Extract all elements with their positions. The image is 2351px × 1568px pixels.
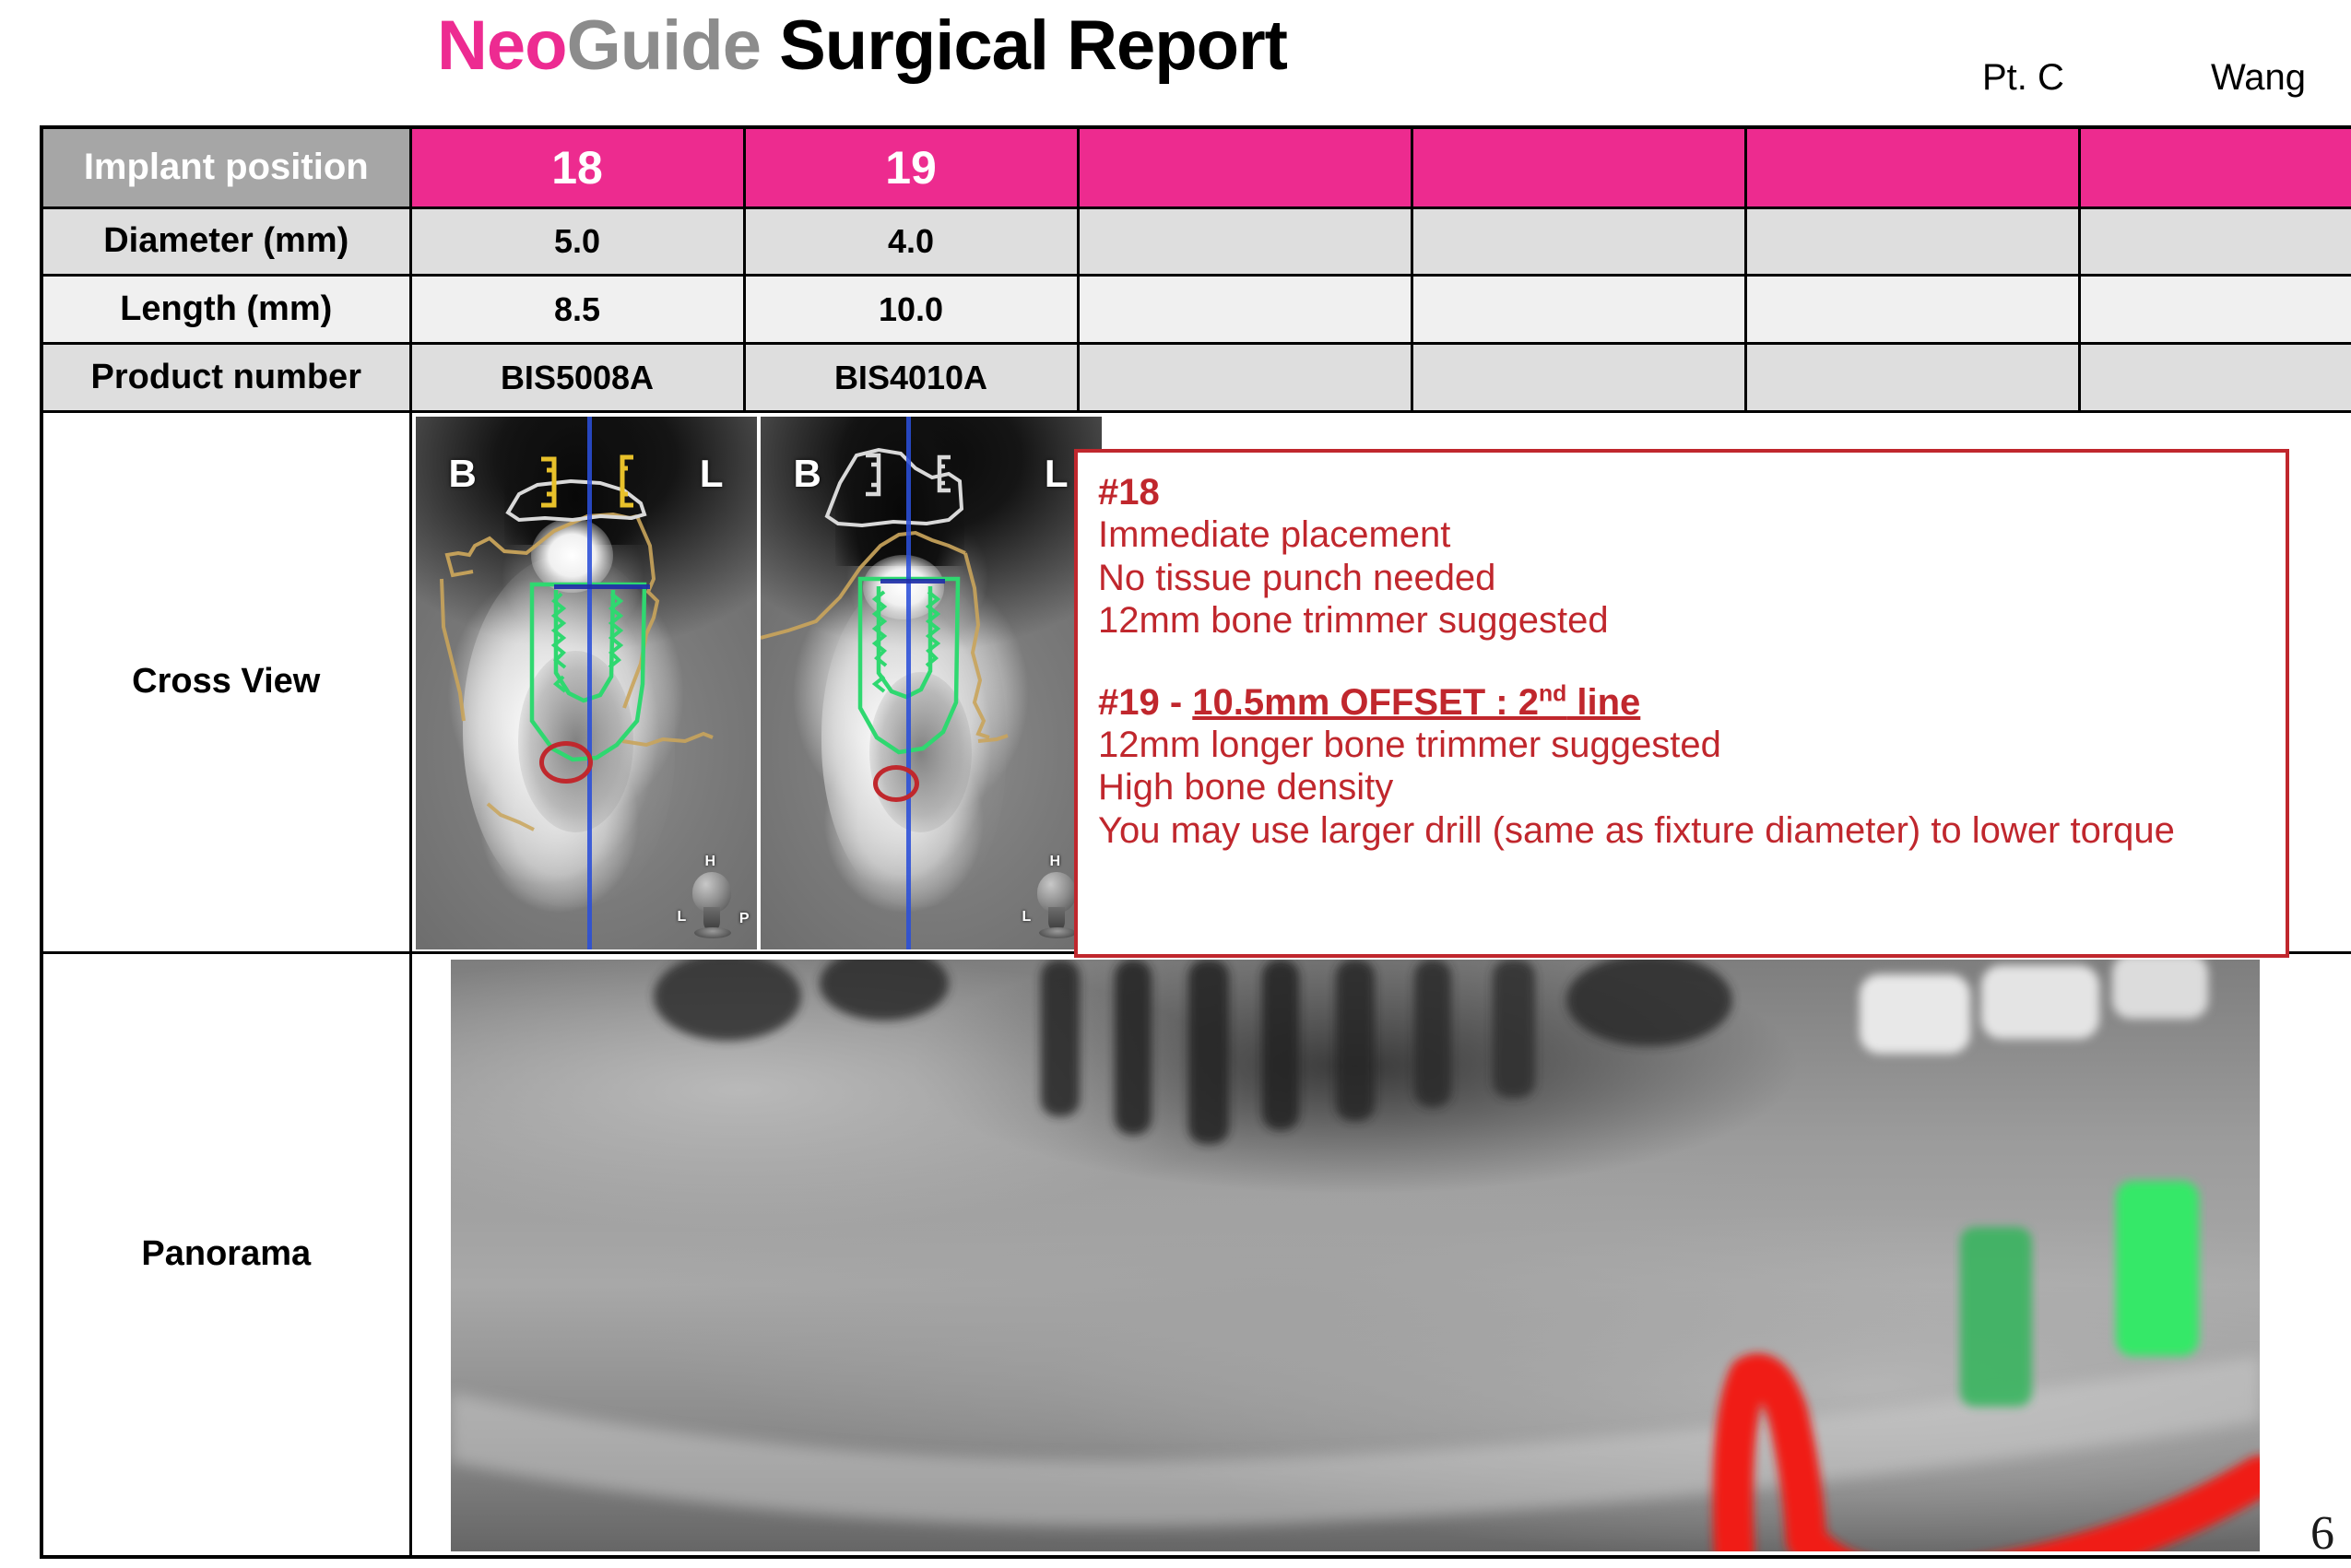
row-header-product-number: Product number bbox=[41, 344, 410, 412]
implant-position-cell-2: 19 bbox=[744, 127, 1078, 207]
note-19-line-3: You may use larger drill (same as fixtur… bbox=[1098, 809, 2286, 852]
length-cell-6 bbox=[2079, 276, 2351, 344]
title-guide: Guide bbox=[567, 6, 761, 85]
diameter-cell-3 bbox=[1078, 207, 1412, 276]
panorama-implant-19 bbox=[2116, 1181, 2199, 1356]
patient-name: Wang bbox=[2211, 57, 2306, 99]
length-cell-5 bbox=[1745, 276, 2079, 344]
row-header-diameter: Diameter (mm) bbox=[41, 207, 410, 276]
ct19-buccal-label: B bbox=[794, 452, 821, 496]
length-cell-3 bbox=[1078, 276, 1412, 344]
panoramic-radiograph[interactable] bbox=[451, 960, 2260, 1551]
ct19-horizontal-axis bbox=[880, 579, 945, 584]
ct18-horizontal-axis bbox=[554, 584, 650, 589]
table-row-panorama: Panorama bbox=[41, 952, 2351, 1557]
panorama-overlay-svg bbox=[451, 960, 2260, 1551]
implant-position-cell-6 bbox=[2079, 127, 2351, 207]
ct19-nerve-canal-marker bbox=[873, 765, 919, 802]
table-row-diameter: Diameter (mm) 5.0 4.0 bbox=[41, 207, 2351, 276]
product-number-cell-1: BIS5008A bbox=[410, 344, 744, 412]
note-spacer bbox=[1098, 643, 2286, 681]
patient-label: Pt. C bbox=[1982, 57, 2064, 99]
row-header-cross-view: Cross View bbox=[41, 412, 410, 953]
diameter-cell-2: 4.0 bbox=[744, 207, 1078, 276]
product-number-cell-6 bbox=[2079, 344, 2351, 412]
implant-position-cell-1: 18 bbox=[410, 127, 744, 207]
note-19-offset-tail: line bbox=[1566, 682, 1640, 723]
ct19-lingual-label: L bbox=[1045, 452, 1069, 496]
note-19-offset-text: 10.5mm OFFSET : 2 bbox=[1192, 682, 1539, 723]
ct18-buccal-label: B bbox=[449, 452, 477, 496]
report-page: NeoGuide Surgical Report Pt. C Wang Impl… bbox=[0, 0, 2351, 1568]
note-19-offset-ordinal: nd bbox=[1539, 681, 1566, 706]
note-19-line-2: High bone density bbox=[1098, 766, 2286, 808]
length-cell-1: 8.5 bbox=[410, 276, 744, 344]
ct-cross-section-18[interactable]: B L H L P bbox=[416, 417, 757, 949]
product-number-cell-3 bbox=[1078, 344, 1412, 412]
length-cell-2: 10.0 bbox=[744, 276, 1078, 344]
ct18-orient-p-label: P bbox=[739, 911, 750, 927]
implant-position-cell-4 bbox=[1412, 127, 1745, 207]
ct18-lingual-label: L bbox=[700, 452, 724, 496]
page-title: NeoGuide Surgical Report bbox=[0, 6, 1724, 86]
product-number-cell-2: BIS4010A bbox=[744, 344, 1078, 412]
note-heading-19: #19 - 10.5mm OFFSET : 2nd line bbox=[1098, 681, 2286, 724]
ct19-orient-l-label: L bbox=[1022, 909, 1032, 925]
note-18-line-1: Immediate placement bbox=[1098, 513, 2286, 556]
diameter-cell-4 bbox=[1412, 207, 1745, 276]
ct18-orient-l-label: L bbox=[678, 909, 687, 925]
product-number-cell-5 bbox=[1745, 344, 2079, 412]
panorama-content-cell bbox=[410, 952, 2351, 1557]
row-header-implant-position: Implant position bbox=[41, 127, 410, 207]
row-header-panorama: Panorama bbox=[41, 952, 410, 1557]
title-surgical-report: Surgical Report bbox=[761, 6, 1287, 85]
note-18-line-3: 12mm bone trimmer suggested bbox=[1098, 599, 2286, 642]
ct18-nerve-canal-marker bbox=[539, 741, 593, 784]
diameter-cell-1: 5.0 bbox=[410, 207, 744, 276]
ct18-orientation-cube-icon: H L P bbox=[678, 855, 750, 940]
table-row-length: Length (mm) 8.5 10.0 bbox=[41, 276, 2351, 344]
ct19-vertical-axis bbox=[906, 417, 911, 949]
ct18-orient-h-label: H bbox=[705, 854, 716, 870]
title-neo: Neo bbox=[437, 6, 567, 85]
implant-position-cell-3 bbox=[1078, 127, 1412, 207]
page-number: 6 bbox=[2310, 1506, 2334, 1561]
note-18-line-2: No tissue punch needed bbox=[1098, 557, 2286, 599]
product-number-cell-4 bbox=[1412, 344, 1745, 412]
surgical-notes-box: #18 Immediate placement No tissue punch … bbox=[1074, 449, 2289, 958]
ct-cross-section-19[interactable]: B L H L P bbox=[761, 417, 1102, 949]
table-row-implant-position: Implant position 18 19 bbox=[41, 127, 2351, 207]
diameter-cell-5 bbox=[1745, 207, 2079, 276]
table-row-product-number: Product number BIS5008A BIS4010A bbox=[41, 344, 2351, 412]
note-19-prefix: #19 - bbox=[1098, 682, 1192, 723]
diameter-cell-6 bbox=[2079, 207, 2351, 276]
length-cell-4 bbox=[1412, 276, 1745, 344]
note-heading-18: #18 bbox=[1098, 471, 2286, 513]
note-19-line-1: 12mm longer bone trimmer suggested bbox=[1098, 724, 2286, 766]
ct18-vertical-axis bbox=[587, 417, 592, 949]
implant-position-cell-5 bbox=[1745, 127, 2079, 207]
note-19-offset: 10.5mm OFFSET : 2nd line bbox=[1192, 682, 1640, 723]
ct19-orient-h-label: H bbox=[1050, 854, 1061, 870]
row-header-length: Length (mm) bbox=[41, 276, 410, 344]
panorama-implant-18 bbox=[1960, 1227, 2032, 1407]
